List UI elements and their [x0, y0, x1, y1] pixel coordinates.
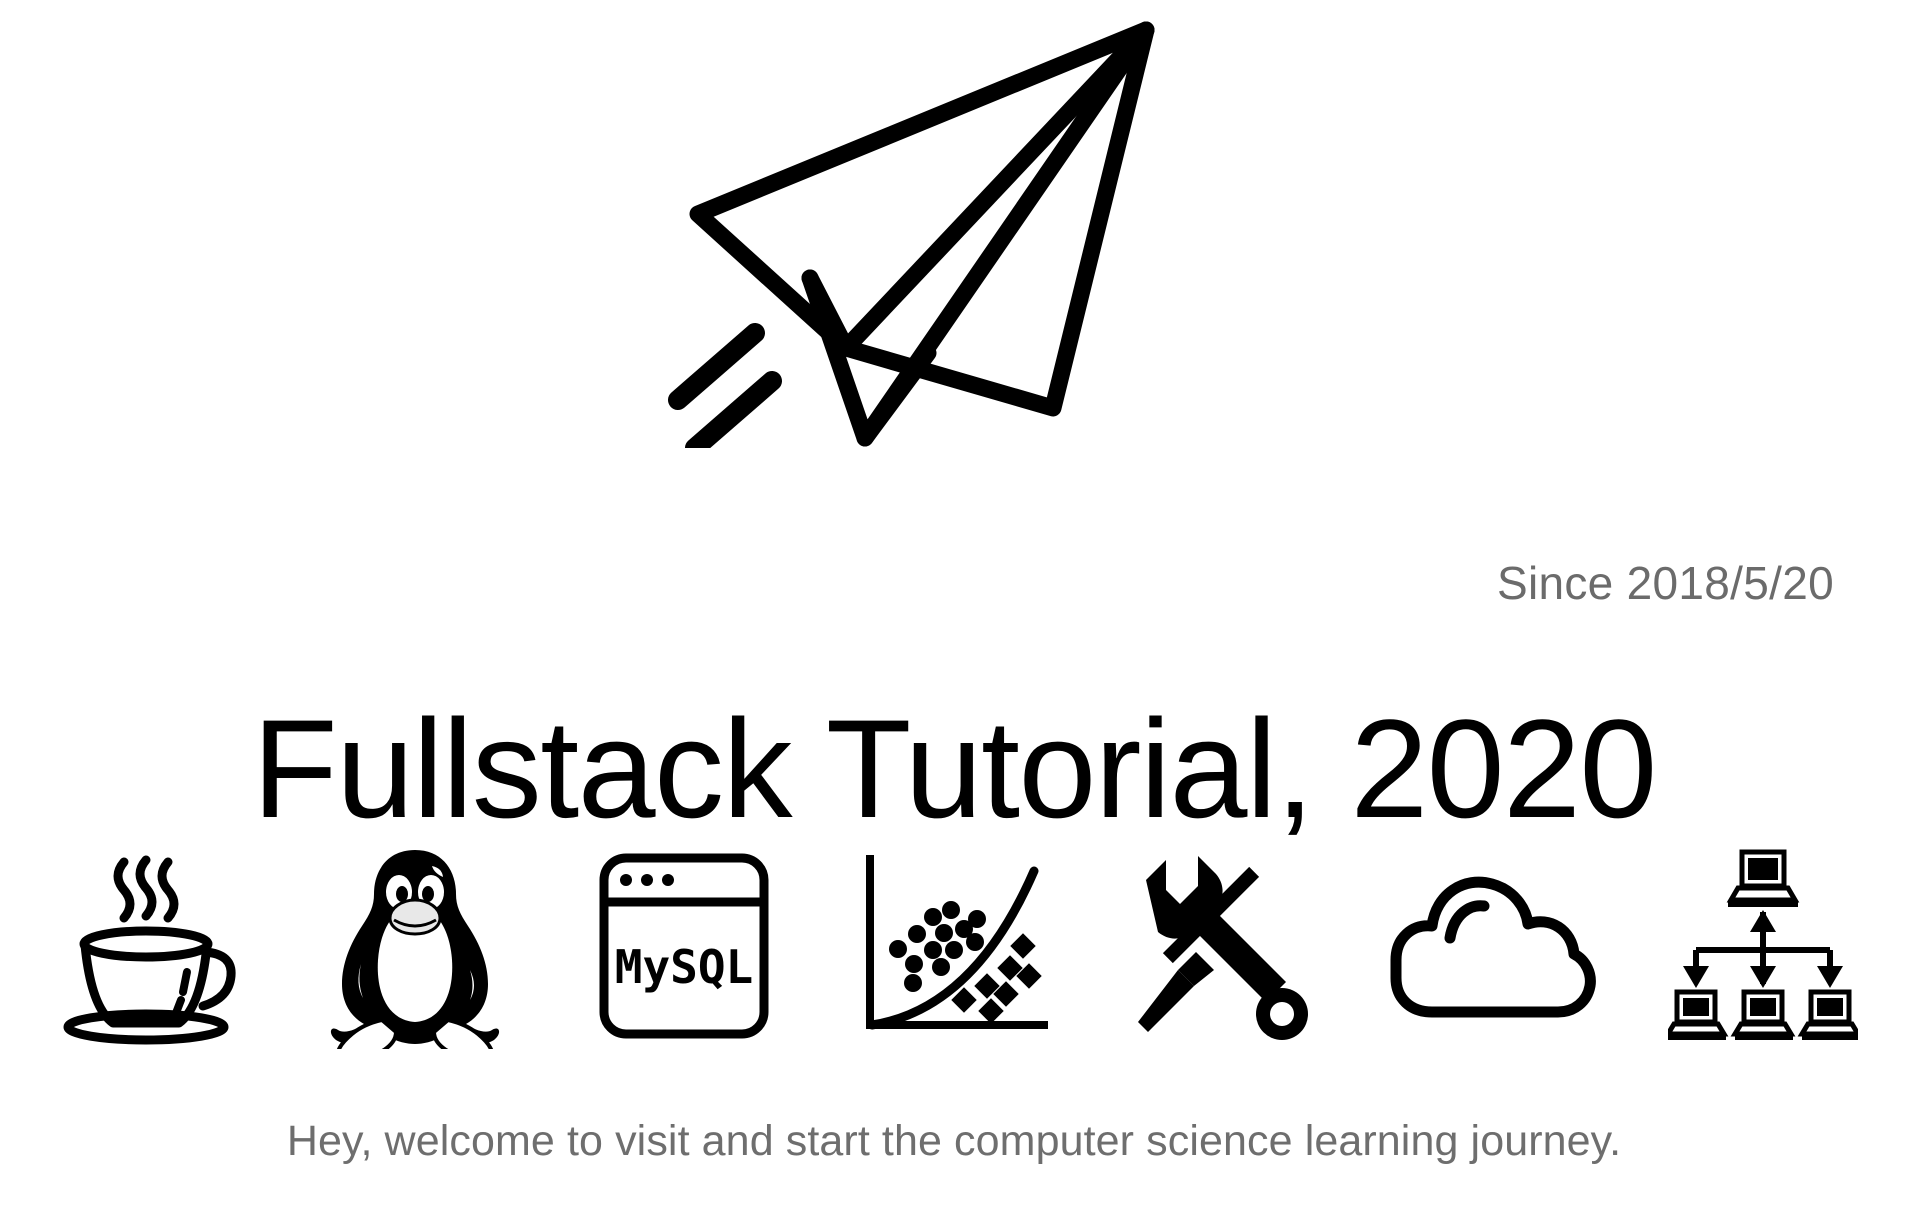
page-title: Fullstack Tutorial, 2020: [0, 698, 1908, 841]
paper-plane-icon: [660, 8, 1180, 448]
tools-icon: [1116, 839, 1331, 1054]
cloud-icon: [1386, 839, 1601, 1054]
mysql-window-label: MySQL: [615, 940, 753, 994]
laptop-top: [1728, 852, 1798, 907]
laptop-bottom-left: [1668, 992, 1726, 1040]
tagline: Hey, welcome to visit and start the comp…: [0, 1118, 1908, 1165]
paper-plane-logo: [660, 8, 1180, 448]
technology-icon-row: MySQL: [38, 836, 1870, 1056]
scatter-plot-icon: [847, 839, 1062, 1054]
mysql-window-icon: MySQL: [577, 839, 792, 1054]
network-icon: [1655, 839, 1870, 1054]
coffee-cup-icon: [38, 839, 253, 1054]
laptop-bottom-right: [1802, 992, 1858, 1040]
laptop-bottom-center: [1735, 992, 1793, 1040]
page-root: Since 2018/5/20 Fullstack Tutorial, 2020: [0, 0, 1908, 1218]
linux-penguin-icon: [308, 839, 523, 1054]
motion-lines: [678, 333, 772, 448]
since-label: Since 2018/5/20: [1497, 560, 1834, 606]
